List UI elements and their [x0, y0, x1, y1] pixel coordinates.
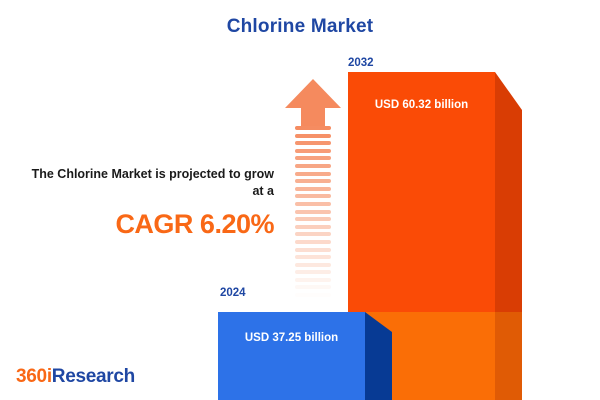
page-title: Chlorine Market [0, 16, 600, 38]
arrow-stripe [295, 126, 331, 130]
bar-base-front-face [218, 312, 365, 400]
bar-base-value-label: USD 37.25 billion [218, 332, 365, 344]
annotation-block: The Chlorine Market is projected to grow… [22, 166, 274, 240]
arrow-stripe [295, 285, 331, 289]
arrow-stripe [295, 194, 331, 198]
arrow-stripe [295, 179, 331, 183]
growth-arrow-icon [284, 78, 342, 300]
bar-base-side-face [365, 312, 392, 400]
arrow-stripe [295, 255, 331, 259]
logo-part-research: Research [52, 366, 135, 387]
bar-base: USD 37.25 billion [218, 312, 392, 400]
arrow-stripe [295, 172, 331, 176]
arrow-stripe [295, 187, 331, 191]
arrow-stripe [295, 240, 331, 244]
arrow-stripe [295, 141, 331, 145]
arrow-stripe [295, 278, 331, 282]
arrow-stripe [295, 270, 331, 274]
bar-forecast-side-overlap-shade [495, 312, 522, 400]
logo-part-360: 360 [16, 366, 47, 387]
brand-logo: 360iResearch [16, 366, 135, 388]
annotation-lead-text: The Chlorine Market is projected to grow… [22, 166, 274, 200]
arrow-stripe [295, 248, 331, 252]
arrow-stripe [295, 134, 331, 138]
arrow-stripe [295, 164, 331, 168]
bar-label-forecast-year: 2032 [348, 57, 374, 69]
cagr-value: CAGR 6.20% [22, 209, 274, 240]
arrow-stripe [295, 263, 331, 267]
bar-label-base-year: 2024 [220, 287, 246, 299]
arrow-stripe [295, 149, 331, 153]
arrow-head-icon [284, 78, 342, 126]
arrow-stripe [295, 225, 331, 229]
arrow-stripes [295, 126, 331, 300]
arrow-stripe [295, 202, 331, 206]
arrow-stripe [295, 232, 331, 236]
arrow-stripe [295, 210, 331, 214]
arrow-stripe [295, 217, 331, 221]
arrow-stripe [295, 156, 331, 160]
bar-forecast-value-label: USD 60.32 billion [348, 99, 495, 111]
arrow-stripe [295, 293, 331, 297]
